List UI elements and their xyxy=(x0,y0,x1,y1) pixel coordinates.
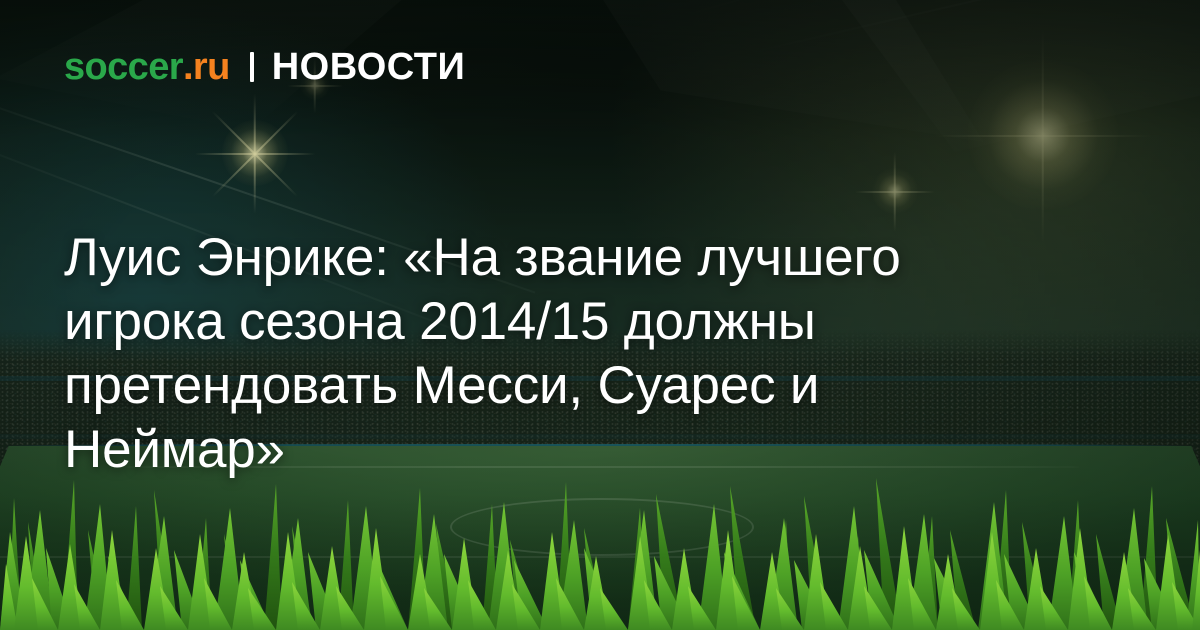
headline-line: претендовать Месси, Суарес и xyxy=(64,354,1064,418)
logo-ru-text: .ru xyxy=(183,48,230,86)
headline-line: Неймар» xyxy=(64,418,1064,482)
flare-spike xyxy=(1042,26,1044,246)
floodlight-flare-icon xyxy=(872,168,918,214)
headline: Луис Энрике: «На звание лучшего игрока с… xyxy=(64,226,1064,482)
headline-line: игрока сезона 2014/15 должны xyxy=(64,290,1064,354)
floodlight-flare-icon xyxy=(222,120,288,186)
foreground-grass xyxy=(0,460,1200,630)
section-label: НОВОСТИ xyxy=(272,48,466,86)
headline-line: Луис Энрике: «На звание лучшего xyxy=(64,226,1064,290)
news-share-card: soccer.ru НОВОСТИ Луис Энрике: «На звани… xyxy=(0,0,1200,630)
floodlight-flare-icon xyxy=(968,60,1118,210)
brand-lockup[interactable]: soccer.ru НОВОСТИ xyxy=(64,48,465,86)
brand-divider xyxy=(250,52,254,82)
grass-blades-svg xyxy=(0,460,1200,630)
logo-soccer-text: soccer xyxy=(64,48,183,86)
flare-spike xyxy=(894,152,896,232)
